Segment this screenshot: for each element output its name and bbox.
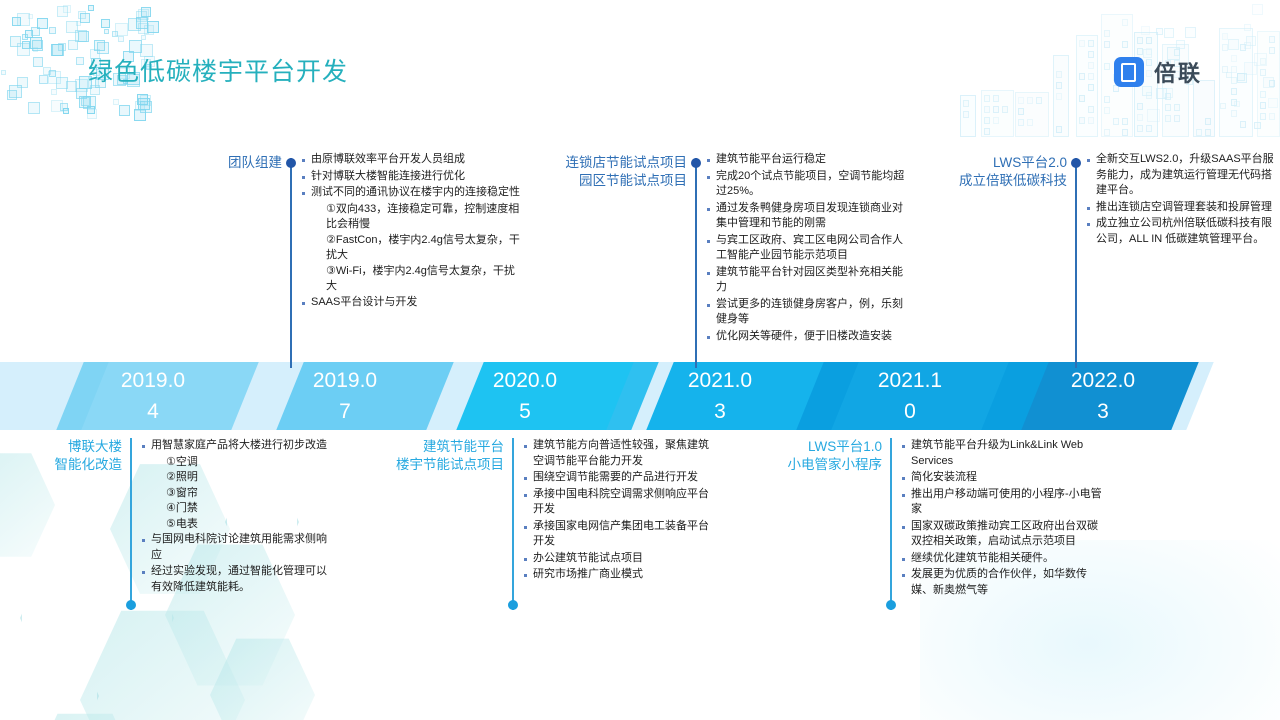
- timeline-event-heading: LWS平台2.0成立倍联低碳科技: [959, 154, 1067, 190]
- timeline-event-bullet: 建筑节能平台升级为Link&Link Web Services: [900, 438, 1105, 469]
- timeline-event-body: 由原博联效率平台开发人员组成针对博联大楼智能连接进行优化测试不同的通讯协议在楼宇…: [300, 152, 520, 311]
- square-logo-icon: [1114, 57, 1144, 87]
- timeline-connector-dot[interactable]: [886, 600, 896, 610]
- timeline-event-bullet: 尝试更多的连锁健身房客户，例，乐刻健身等: [705, 297, 905, 328]
- timeline-event-subitem: ①双向433，连接稳定可靠，控制速度相比会稍慢: [300, 202, 520, 233]
- timeline-event-bullet: 由原博联效率平台开发人员组成: [300, 152, 520, 168]
- timeline-event-bullet: 与宾工区政府、宾工区电网公司合作人工智能产业园节能示范项目: [705, 233, 905, 264]
- timeline-event-bullet: 通过发条鸭健身房项目发现连锁商业对集中管理和节能的刚需: [705, 201, 905, 232]
- timeline-date-2[interactable]: 2019.07: [270, 362, 420, 430]
- timeline-event-bullet: 经过实验发现，通过智能化管理可以有效降低建筑能耗。: [140, 564, 330, 595]
- timeline-date-line2: 7: [339, 396, 351, 427]
- timeline-event-bullet: 成立独立公司杭州倍联低碳科技有限公司，ALL IN 低碳建筑管理平台。: [1085, 216, 1275, 247]
- slide-root: 绿色低碳楼宇平台开发 倍联 2019.042019.072020.052021.…: [0, 0, 1280, 720]
- timeline-connector-line: [695, 158, 697, 368]
- timeline-date-line1: 2021.1: [878, 365, 942, 396]
- timeline-event-bullet: 围绕空调节能需要的产品进行开发: [522, 470, 717, 486]
- brand-logo: 倍联: [1114, 56, 1202, 88]
- timeline-event-heading: 建筑节能平台楼宇节能试点项目: [396, 438, 504, 474]
- timeline-connector-dot[interactable]: [691, 158, 701, 168]
- timeline-event-body: 用智慧家庭产品将大楼进行初步改造①空调②照明③窗帘④门禁⑤电表与国网电科院讨论建…: [140, 438, 330, 596]
- timeline-event-subitem: ③窗帘: [140, 486, 330, 502]
- timeline-event-heading: 团队组建: [228, 154, 282, 172]
- timeline-event-bullet: 建筑节能平台针对园区类型补充相关能力: [705, 265, 905, 296]
- timeline-event-body: 全新交互LWS2.0，升级SAAS平台服务能力，成为建筑运行管理无代码搭建平台。…: [1085, 152, 1275, 248]
- timeline-event-heading-line: LWS平台2.0: [959, 154, 1067, 172]
- timeline-date-line2: 5: [519, 396, 531, 427]
- timeline-date-4[interactable]: 2021.03: [645, 362, 795, 430]
- timeline-event-bullet: 发展更为优质的合作伙伴，如华数传媒、新奥燃气等: [900, 567, 1105, 598]
- timeline-event-heading-line: 小电管家小程序: [788, 456, 883, 474]
- timeline-date-line1: 2019.0: [121, 365, 185, 396]
- timeline-event-list: 建筑节能方向普适性较强，聚焦建筑空调节能平台能力开发围绕空调节能需要的产品进行开…: [522, 438, 717, 583]
- timeline-event-heading-line: 博联大楼: [55, 438, 123, 456]
- timeline-event-list: 全新交互LWS2.0，升级SAAS平台服务能力，成为建筑运行管理无代码搭建平台。…: [1085, 152, 1275, 247]
- timeline-event-body: 建筑节能方向普适性较强，聚焦建筑空调节能平台能力开发围绕空调节能需要的产品进行开…: [522, 438, 717, 584]
- timeline-event-list: 用智慧家庭产品将大楼进行初步改造①空调②照明③窗帘④门禁⑤电表与国网电科院讨论建…: [140, 438, 330, 595]
- timeline-event-heading-line: 团队组建: [228, 154, 282, 172]
- timeline-event-bullet: 办公建筑节能试点项目: [522, 551, 717, 567]
- timeline-event-bullet: 继续优化建筑节能相关硬件。: [900, 551, 1105, 567]
- timeline-connector-dot[interactable]: [1071, 158, 1081, 168]
- timeline-event-list: 由原博联效率平台开发人员组成针对博联大楼智能连接进行优化测试不同的通讯协议在楼宇…: [300, 152, 520, 310]
- timeline-event-heading-line: 连锁店节能试点项目: [566, 154, 688, 172]
- timeline-date-6[interactable]: 2022.03: [1028, 362, 1178, 430]
- timeline-date-3[interactable]: 2020.05: [450, 362, 600, 430]
- timeline-date-line2: 4: [147, 396, 159, 427]
- timeline-event-heading-line: 楼宇节能试点项目: [396, 456, 504, 474]
- timeline-event-heading-line: 园区节能试点项目: [566, 172, 688, 190]
- timeline-event-list: 建筑节能平台运行稳定完成20个试点节能项目，空调节能均超过25%。通过发条鸭健身…: [705, 152, 905, 344]
- timeline-date-line2: 3: [1097, 396, 1109, 427]
- timeline-event-bullet: 推出用户移动端可使用的小程序-小电管家: [900, 487, 1105, 518]
- timeline-date-line1: 2021.0: [688, 365, 752, 396]
- page-title: 绿色低碳楼宇平台开发: [88, 52, 348, 88]
- timeline-event-subitem: ①空调: [140, 455, 330, 471]
- timeline-connector-line: [290, 158, 292, 368]
- timeline-event-bullet: 简化安装流程: [900, 470, 1105, 486]
- timeline-date-line1: 2020.0: [493, 365, 557, 396]
- timeline-date-line2: 3: [714, 396, 726, 427]
- timeline-event-body: 建筑节能平台运行稳定完成20个试点节能项目，空调节能均超过25%。通过发条鸭健身…: [705, 152, 905, 345]
- timeline-event-heading: 连锁店节能试点项目园区节能试点项目: [566, 154, 688, 190]
- timeline-event-heading-line: LWS平台1.0: [788, 438, 883, 456]
- timeline-connector-line: [1075, 158, 1077, 368]
- timeline-event-heading: LWS平台1.0小电管家小程序: [788, 438, 883, 474]
- timeline-date-line1: 2022.0: [1071, 365, 1135, 396]
- timeline-event-bullet: 测试不同的通讯协议在楼宇内的连接稳定性: [300, 185, 520, 201]
- timeline-date-line1: 2019.0: [313, 365, 377, 396]
- timeline-date-5[interactable]: 2021.10: [835, 362, 985, 430]
- timeline-connector-line: [890, 438, 892, 610]
- timeline-event-bullet: 推出连锁店空调管理套装和投屏管理: [1085, 200, 1275, 216]
- timeline-event-bullet: 用智慧家庭产品将大楼进行初步改造: [140, 438, 330, 454]
- timeline-event-subitem: ③Wi-Fi，楼宇内2.4g信号太复杂，干扰大: [300, 264, 520, 295]
- timeline-date-1[interactable]: 2019.04: [78, 362, 228, 430]
- timeline-event-heading-line: 成立倍联低碳科技: [959, 172, 1067, 190]
- timeline-event-bullet: 完成20个试点节能项目，空调节能均超过25%。: [705, 169, 905, 200]
- timeline-event-bullet: 国家双碳政策推动宾工区政府出台双碳双控相关政策，启动试点示范项目: [900, 519, 1105, 550]
- timeline-date-line2: 0: [904, 396, 916, 427]
- timeline-event-bullet: 承接国家电网信产集团电工装备平台开发: [522, 519, 717, 550]
- timeline-connector-dot[interactable]: [508, 600, 518, 610]
- timeline-event-bullet: 优化网关等硬件，便于旧楼改造安装: [705, 329, 905, 345]
- timeline-connector-line: [130, 438, 132, 610]
- timeline-event-heading: 博联大楼智能化改造: [55, 438, 123, 474]
- timeline-event-heading-line: 建筑节能平台: [396, 438, 504, 456]
- timeline-event-bullet: 全新交互LWS2.0，升级SAAS平台服务能力，成为建筑运行管理无代码搭建平台。: [1085, 152, 1275, 199]
- timeline-connector-dot[interactable]: [286, 158, 296, 168]
- timeline-connector-dot[interactable]: [126, 600, 136, 610]
- timeline-event-subitem: ⑤电表: [140, 517, 330, 533]
- timeline-event-bullet: SAAS平台设计与开发: [300, 295, 520, 311]
- timeline-event-list: 建筑节能平台升级为Link&Link Web Services简化安装流程推出用…: [900, 438, 1105, 598]
- timeline-event-bullet: 与国网电科院讨论建筑用能需求侧响应: [140, 532, 330, 563]
- timeline-event-subitem: ④门禁: [140, 501, 330, 517]
- brand-name: 倍联: [1154, 56, 1202, 88]
- timeline-event-bullet: 承接中国电科院空调需求侧响应平台开发: [522, 487, 717, 518]
- timeline-event-bullet: 建筑节能方向普适性较强，聚焦建筑空调节能平台能力开发: [522, 438, 717, 469]
- timeline-connector-line: [512, 438, 514, 610]
- timeline-event-subitem: ②照明: [140, 470, 330, 486]
- timeline-event-subitem: ②FastCon，楼宇内2.4g信号太复杂，干扰大: [300, 233, 520, 264]
- timeline-event-bullet: 研究市场推广商业模式: [522, 567, 717, 583]
- timeline-event-bullet: 建筑节能平台运行稳定: [705, 152, 905, 168]
- timeline-event-heading-line: 智能化改造: [55, 456, 123, 474]
- timeline-event-body: 建筑节能平台升级为Link&Link Web Services简化安装流程推出用…: [900, 438, 1105, 599]
- timeline-event-bullet: 针对博联大楼智能连接进行优化: [300, 169, 520, 185]
